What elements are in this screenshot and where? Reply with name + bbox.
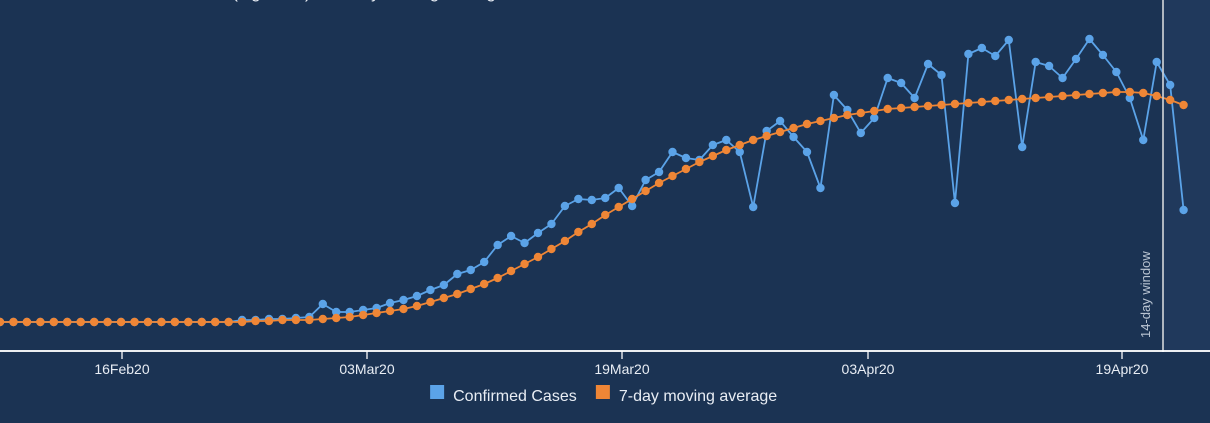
data-point	[413, 302, 421, 310]
data-point	[144, 318, 152, 326]
data-point	[924, 60, 932, 68]
data-point	[762, 132, 770, 140]
data-point	[870, 107, 878, 115]
data-point	[1072, 55, 1080, 63]
data-point	[668, 148, 676, 156]
data-point	[884, 74, 892, 82]
data-point	[897, 79, 905, 87]
data-point	[937, 71, 945, 79]
data-point	[90, 318, 98, 326]
data-point	[910, 103, 918, 111]
data-point	[467, 266, 475, 274]
data-point	[480, 258, 488, 266]
data-point	[211, 318, 219, 326]
axis-tick-label: 03Mar20	[339, 361, 394, 377]
legend-item-label: Confirmed Cases	[453, 388, 577, 405]
data-point	[682, 165, 690, 173]
data-point	[238, 318, 246, 326]
data-point	[1031, 58, 1039, 66]
data-point	[346, 313, 354, 321]
data-point	[1005, 36, 1013, 44]
chart-container: Cumulative confirmed cases (log scale) v…	[0, 0, 1210, 423]
data-point	[1058, 74, 1066, 82]
data-point	[1153, 58, 1161, 66]
data-point	[1112, 88, 1120, 96]
data-point	[493, 274, 501, 282]
data-point	[1018, 95, 1026, 103]
data-point	[224, 318, 232, 326]
axis-tick-label: 19Mar20	[594, 361, 649, 377]
data-point	[709, 141, 717, 149]
data-point	[574, 195, 582, 203]
data-point	[534, 229, 542, 237]
data-point	[23, 318, 31, 326]
data-point	[951, 100, 959, 108]
data-point	[843, 111, 851, 119]
data-point	[830, 91, 838, 99]
data-point	[1099, 51, 1107, 59]
data-point	[722, 136, 730, 144]
data-point	[547, 220, 555, 228]
data-point	[117, 318, 125, 326]
data-point	[816, 184, 824, 192]
data-point	[1179, 206, 1187, 214]
data-point	[359, 311, 367, 319]
data-point	[1112, 68, 1120, 76]
data-point	[776, 128, 784, 136]
data-point	[964, 50, 972, 58]
data-point	[1085, 90, 1093, 98]
legend-item-label: 7-day moving average	[619, 388, 777, 405]
data-point	[937, 101, 945, 109]
data-point	[372, 309, 380, 317]
data-point	[77, 318, 85, 326]
data-point	[520, 239, 528, 247]
data-point	[157, 318, 165, 326]
data-point	[251, 317, 259, 325]
data-point	[440, 294, 448, 302]
data-point	[857, 129, 865, 137]
data-point	[507, 232, 515, 240]
data-point	[1139, 89, 1147, 97]
data-point	[816, 117, 824, 125]
data-point	[574, 228, 582, 236]
data-point	[1166, 96, 1174, 104]
data-point	[749, 203, 757, 211]
data-point	[628, 195, 636, 203]
data-point	[1179, 101, 1187, 109]
data-point	[655, 168, 663, 176]
data-point	[709, 152, 717, 160]
data-point	[615, 203, 623, 211]
data-point	[668, 172, 676, 180]
data-point	[399, 305, 407, 313]
data-point	[951, 199, 959, 207]
data-point	[534, 253, 542, 261]
data-point	[171, 318, 179, 326]
data-point	[978, 98, 986, 106]
data-point	[130, 318, 138, 326]
data-point	[332, 314, 340, 322]
window-shade-region	[1163, 0, 1210, 352]
data-point	[453, 270, 461, 278]
data-point	[588, 196, 596, 204]
data-point	[588, 220, 596, 228]
data-point	[103, 318, 111, 326]
data-point	[1005, 96, 1013, 104]
data-point	[857, 109, 865, 117]
axis-tick-label: 03Apr20	[842, 361, 895, 377]
data-point	[776, 117, 784, 125]
data-point	[453, 290, 461, 298]
data-point	[63, 318, 71, 326]
data-point	[803, 148, 811, 156]
cases-line-chart: 14-day window 16Feb2003Mar2019Mar2003Apr…	[0, 0, 1210, 423]
data-point	[440, 281, 448, 289]
data-point	[964, 99, 972, 107]
data-point	[1166, 81, 1174, 89]
data-point	[36, 318, 44, 326]
data-point	[978, 44, 986, 52]
data-point	[641, 176, 649, 184]
window-annotation-label: 14-day window	[1138, 251, 1153, 338]
data-point	[1018, 143, 1026, 151]
data-point	[991, 52, 999, 60]
data-point	[561, 202, 569, 210]
data-point	[278, 316, 286, 324]
data-point	[910, 94, 918, 102]
data-point	[1153, 92, 1161, 100]
data-point	[319, 300, 327, 308]
data-point	[413, 292, 421, 300]
data-point	[1058, 92, 1066, 100]
data-point	[1139, 136, 1147, 144]
legend-blue-square-icon	[430, 385, 444, 399]
data-point	[1045, 93, 1053, 101]
data-point	[426, 286, 434, 294]
legend-orange-square-icon	[596, 385, 610, 399]
data-point	[897, 104, 905, 112]
data-point	[803, 120, 811, 128]
data-point	[682, 154, 690, 162]
axis-tick-label: 19Apr20	[1096, 361, 1149, 377]
data-point	[399, 296, 407, 304]
data-point	[749, 136, 757, 144]
data-point	[1085, 35, 1093, 43]
data-point	[547, 245, 555, 253]
data-point	[520, 260, 528, 268]
data-point	[991, 97, 999, 105]
data-point	[655, 179, 663, 187]
data-point	[884, 105, 892, 113]
data-point	[1099, 89, 1107, 97]
data-point	[426, 298, 434, 306]
data-point	[1072, 91, 1080, 99]
data-point	[386, 307, 394, 315]
data-point	[601, 194, 609, 202]
data-point	[9, 318, 17, 326]
data-point	[319, 315, 327, 323]
data-point	[789, 124, 797, 132]
data-point	[695, 158, 703, 166]
axis-tick-label: 16Feb20	[94, 361, 149, 377]
data-point	[641, 187, 649, 195]
data-point	[386, 299, 394, 307]
data-point	[1126, 88, 1134, 96]
data-point	[50, 318, 58, 326]
data-point	[736, 141, 744, 149]
data-point	[722, 146, 730, 154]
data-point	[601, 211, 609, 219]
data-point	[924, 102, 932, 110]
data-point	[480, 280, 488, 288]
data-point	[830, 114, 838, 122]
data-point	[1045, 62, 1053, 70]
data-point	[305, 316, 313, 324]
data-point	[1031, 94, 1039, 102]
data-point	[292, 316, 300, 324]
data-point	[265, 317, 273, 325]
data-point	[561, 237, 569, 245]
data-point	[615, 184, 623, 192]
data-point	[493, 241, 501, 249]
data-point	[507, 267, 515, 275]
data-point	[789, 133, 797, 141]
data-point	[467, 285, 475, 293]
data-point	[184, 318, 192, 326]
data-point	[198, 318, 206, 326]
